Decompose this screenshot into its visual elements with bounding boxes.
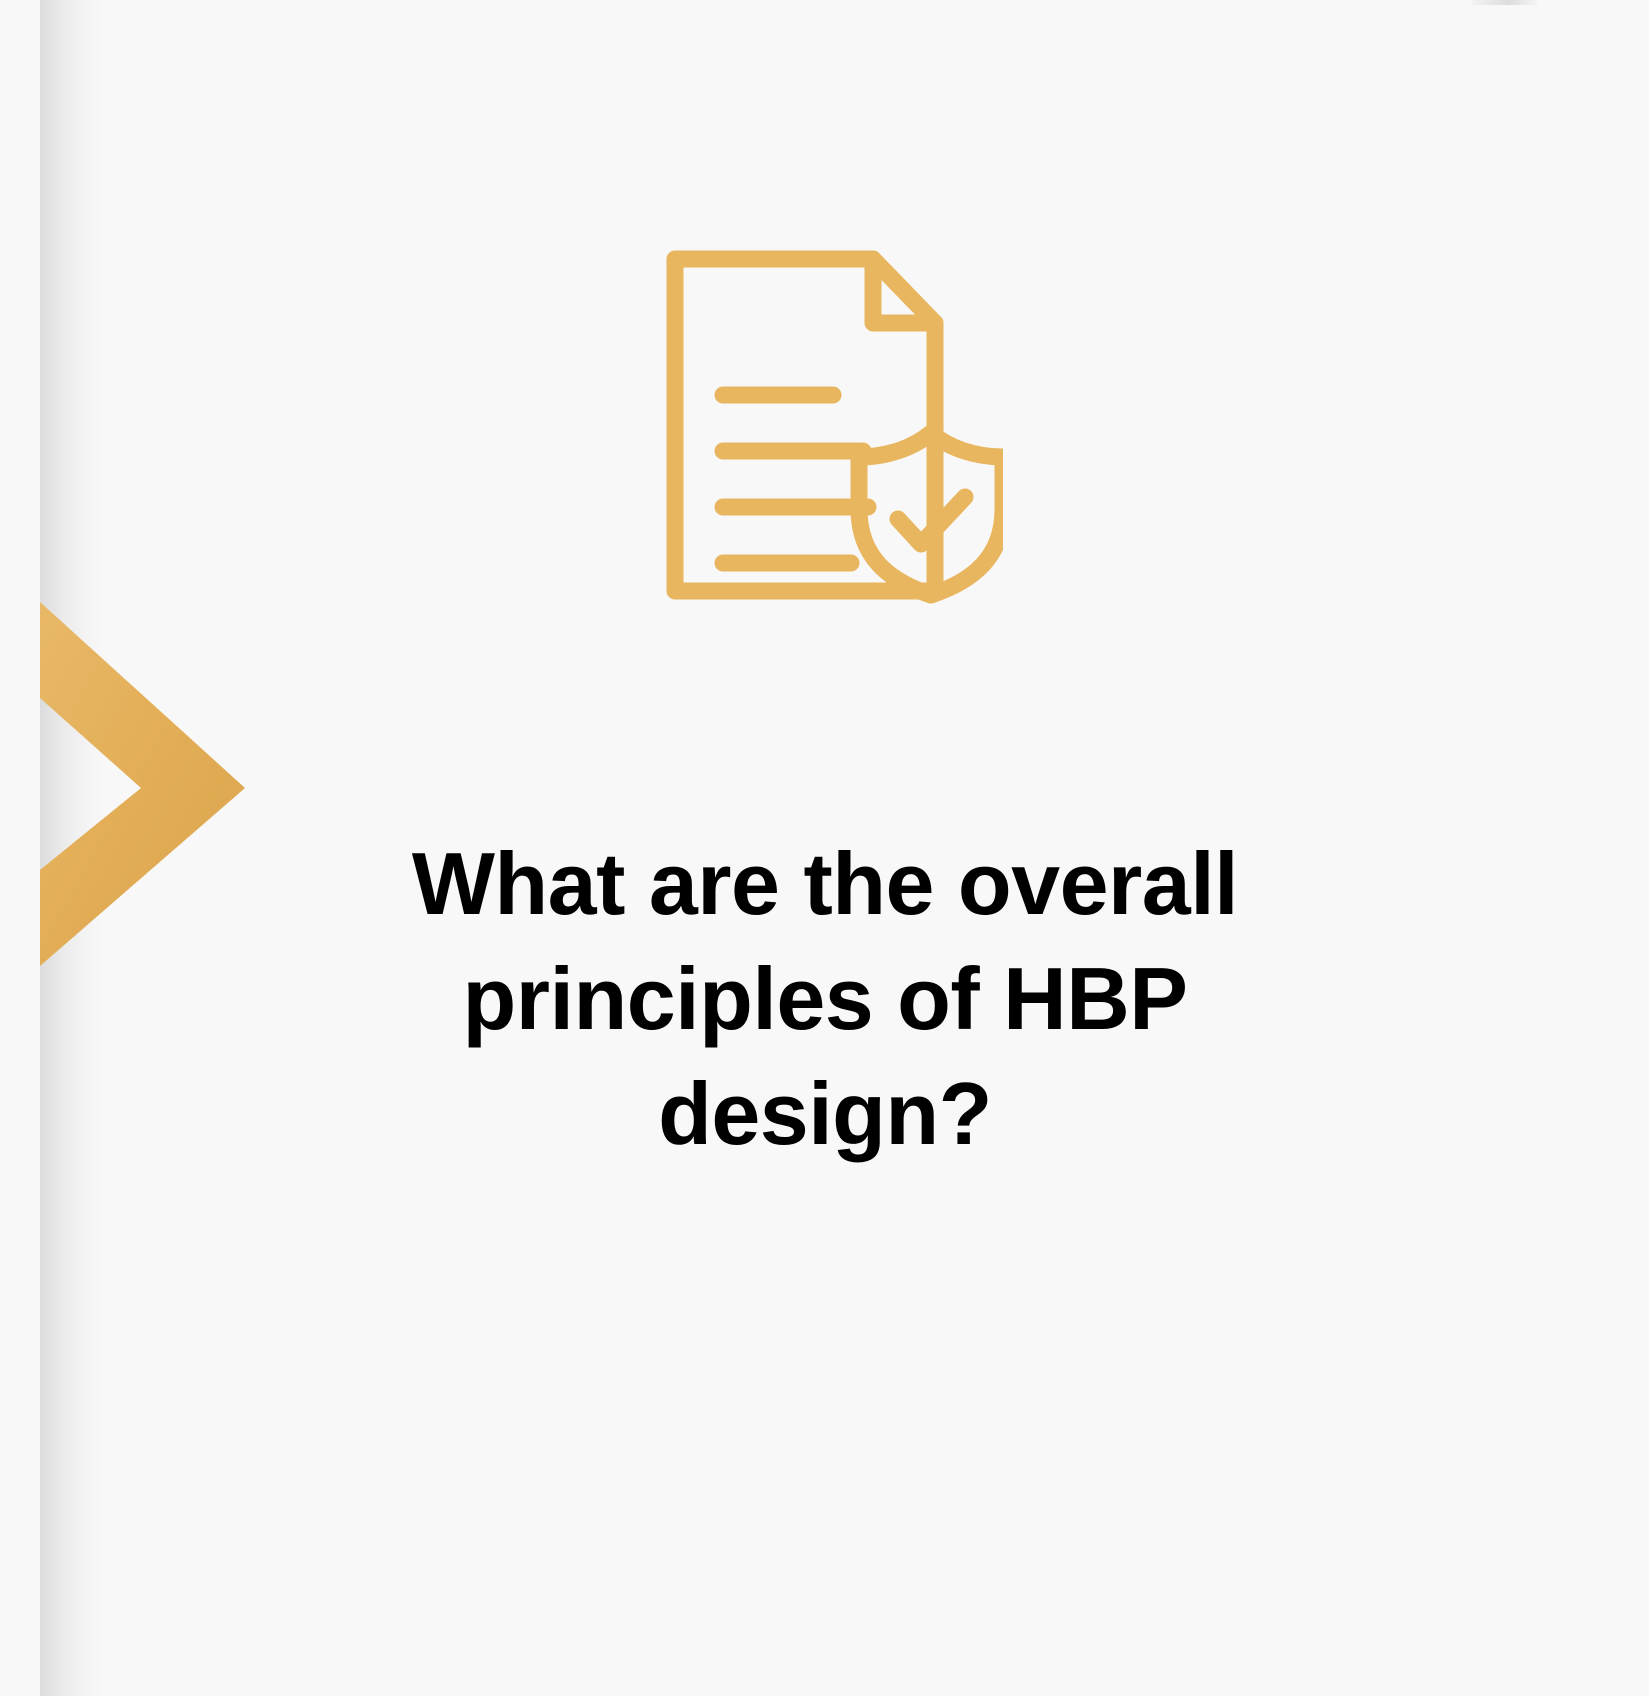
slide-card: What are the overallprinciples of HBPdes… [0, 0, 1649, 1696]
page-title-line-1: What are the overall [412, 834, 1238, 933]
document-shield-icon [655, 245, 1003, 605]
adjacent-card-sliver [1472, 0, 1538, 5]
page-title-line-2: principles of HBP [463, 949, 1188, 1048]
page-title-line-3: design? [658, 1064, 992, 1163]
page-title: What are the overallprinciples of HBPdes… [300, 826, 1350, 1171]
chevron-right-icon [40, 602, 245, 966]
